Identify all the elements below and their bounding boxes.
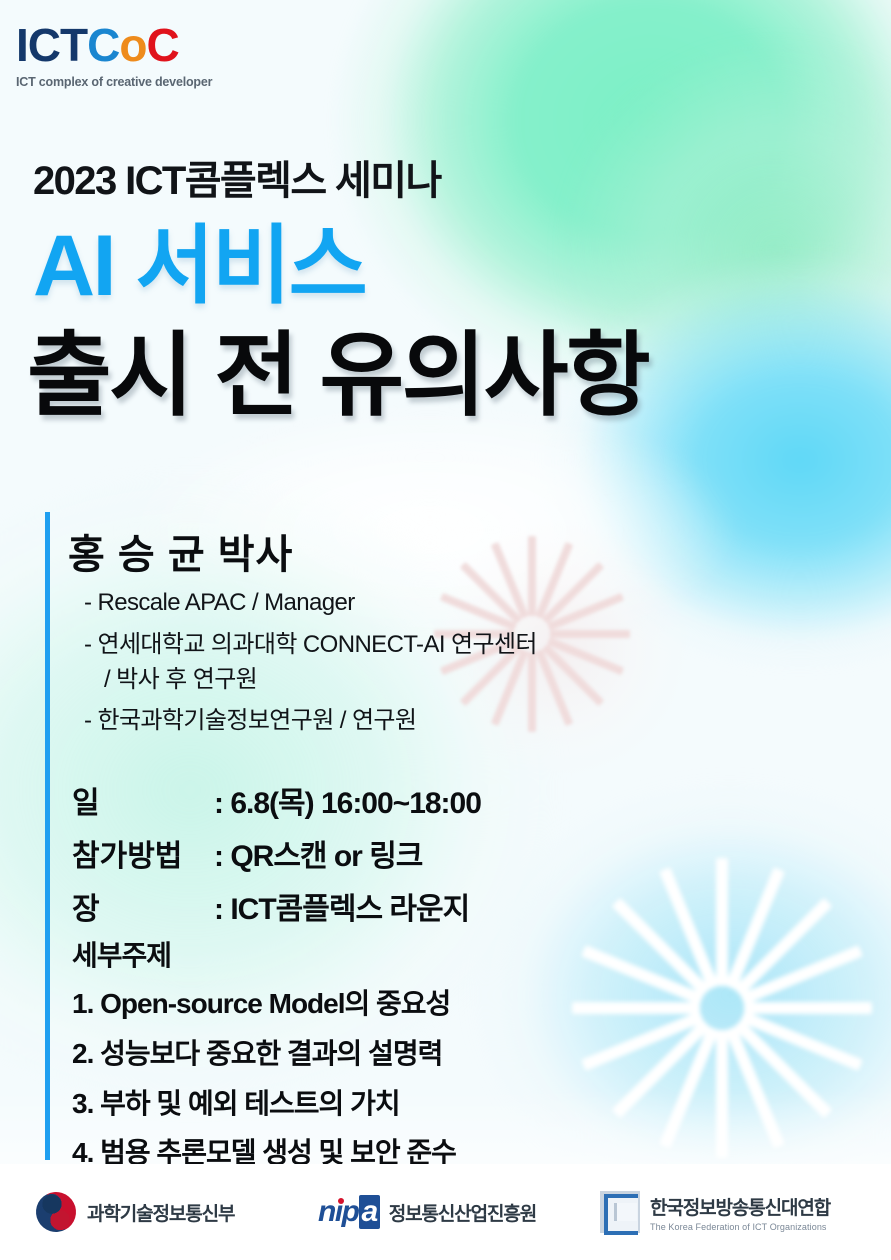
sponsor-label-msit: 과학기술정보통신부: [87, 1199, 234, 1226]
sponsor-logo-kfict: 한국정보방송통신대연합 The Korea Federation of ICT …: [600, 1191, 830, 1233]
accent-bar: [45, 512, 50, 1160]
info-row-venue: 장 : ICT콤플렉스 라운지: [72, 884, 469, 928]
info-label: 일: [72, 778, 214, 822]
sponsor-label-kfict-en: The Korea Federation of ICT Organization…: [650, 1222, 830, 1232]
nipa-letter-p: p: [342, 1195, 359, 1228]
kfict-square-icon: [600, 1191, 640, 1233]
topic-item: 3. 부하 및 예외 테스트의 가치: [72, 1082, 400, 1122]
footer-sponsor-bar: 과학기술정보통신부 nipa 정보통신산업진흥원 한국정보방송통신대연합 The…: [0, 1164, 891, 1260]
logo-text-o: o: [119, 19, 146, 71]
info-row-date: 일 : 6.8(목) 16:00~18:00: [72, 778, 481, 822]
poster-title-line-2: 출시 전 유의사항: [27, 330, 648, 422]
sponsor-label-nipa: 정보통신산업진흥원: [389, 1199, 536, 1226]
sponsor-logo-msit: 과학기술정보통신부: [36, 1192, 234, 1232]
info-value: : 6.8(목) 16:00~18:00: [214, 778, 481, 822]
ict-coc-logo: ICTCoC ICT complex of creative developer: [16, 22, 212, 89]
sponsor-label-kfict-ko: 한국정보방송통신대연합: [650, 1193, 830, 1220]
info-label: 참가방법: [72, 831, 214, 875]
kfict-text-block: 한국정보방송통신대연합 The Korea Federation of ICT …: [650, 1193, 830, 1232]
logo-text-ict: ICT: [16, 19, 87, 71]
info-value: : ICT콤플렉스 라운지: [214, 884, 469, 928]
nipa-dot-icon: [338, 1198, 344, 1204]
speaker-name: 홍 승 균 박사: [68, 522, 293, 580]
logo-text-c1: C: [87, 19, 119, 71]
speaker-credential: / 박사 후 연구원: [104, 659, 257, 694]
sponsor-logo-nipa: nipa 정보통신산업진흥원: [318, 1195, 536, 1229]
poster-canvas: ICTCoC ICT complex of creative developer…: [0, 0, 891, 1260]
topic-item: 2. 성능보다 중요한 결과의 설명력: [72, 1032, 442, 1072]
nipa-wordmark-icon: nipa: [318, 1195, 380, 1229]
nipa-letter-a: a: [359, 1195, 380, 1229]
info-row-join-method: 참가방법 : QR스캔 or 링크: [72, 831, 422, 875]
seminar-kicker: 2023 ICT콤플렉스 세미나: [33, 148, 441, 206]
nipa-letter-n: n: [318, 1195, 335, 1228]
speaker-credential: - Rescale APAC / Manager: [84, 589, 355, 617]
logo-tagline: ICT complex of creative developer: [16, 75, 212, 89]
info-label: 장: [72, 884, 214, 928]
info-value: : QR스캔 or 링크: [214, 831, 422, 875]
starburst-white-icon: [720, 1006, 724, 1010]
speaker-credential: - 연세대학교 의과대학 CONNECT-AI 연구센터: [84, 624, 537, 659]
topic-item: 1. Open-source Model의 중요성: [72, 982, 450, 1022]
speaker-credential: - 한국과학기술정보연구원 / 연구원: [84, 700, 416, 735]
taegeuk-icon: [29, 1185, 83, 1239]
logo-text-c2: C: [146, 19, 178, 71]
topics-heading: 세부주제: [72, 934, 171, 974]
logo-wordmark: ICTCoC: [16, 22, 212, 68]
poster-title-line-1: AI 서비스: [33, 223, 365, 309]
